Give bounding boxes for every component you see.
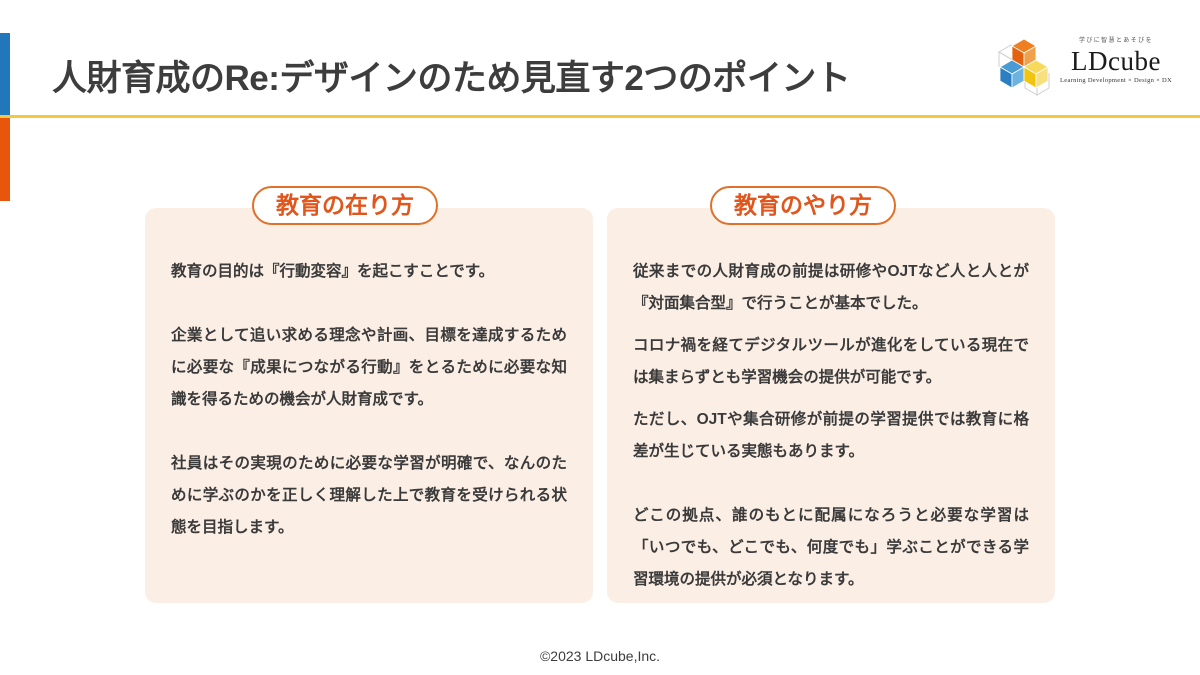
paragraph-spacer (633, 320, 1029, 330)
paragraph-spacer (633, 394, 1029, 404)
card-badge-education-philosophy: 教育の在り方 (252, 186, 438, 225)
card-education-philosophy: 教育の目的は『行動変容』を起こすことです。 企業として追い求める理念や計画、目標… (145, 208, 593, 603)
card-paragraph: コロナ禍を経てデジタルツールが進化をしている現在では集まらずとも学習機会の提供が… (633, 330, 1029, 394)
card-paragraph: 従来までの人財育成の前提は研修やOJTなど人と人とが『対面集合型』で行うことが基… (633, 256, 1029, 320)
content-area: 教育の目的は『行動変容』を起こすことです。 企業として追い求める理念や計画、目標… (0, 0, 1200, 675)
card-paragraph: 社員はその実現のために必要な学習が明確で、なんのために学ぶのかを正しく理解した上… (171, 448, 567, 544)
paragraph-spacer (171, 288, 567, 320)
card-badge-education-method: 教育のやり方 (710, 186, 896, 225)
badge-label: 教育のやり方 (734, 194, 872, 217)
paragraph-spacer (171, 416, 567, 448)
card-paragraph: 教育の目的は『行動変容』を起こすことです。 (171, 256, 567, 288)
paragraph-spacer (633, 468, 1029, 500)
card-paragraph: どこの拠点、誰のもとに配属になろうと必要な学習は「いつでも、どこでも、何度でも」… (633, 500, 1029, 596)
badge-label: 教育の在り方 (276, 194, 414, 217)
card-paragraph: ただし、OJTや集合研修が前提の学習提供では教育に格差が生じている実態もあります… (633, 404, 1029, 468)
card-education-method: 従来までの人財育成の前提は研修やOJTなど人と人とが『対面集合型』で行うことが基… (607, 208, 1055, 603)
copyright-footer: ©2023 LDcube,Inc. (0, 648, 1200, 664)
card-paragraph: 企業として追い求める理念や計画、目標を達成するために必要な『成果につながる行動』… (171, 320, 567, 416)
